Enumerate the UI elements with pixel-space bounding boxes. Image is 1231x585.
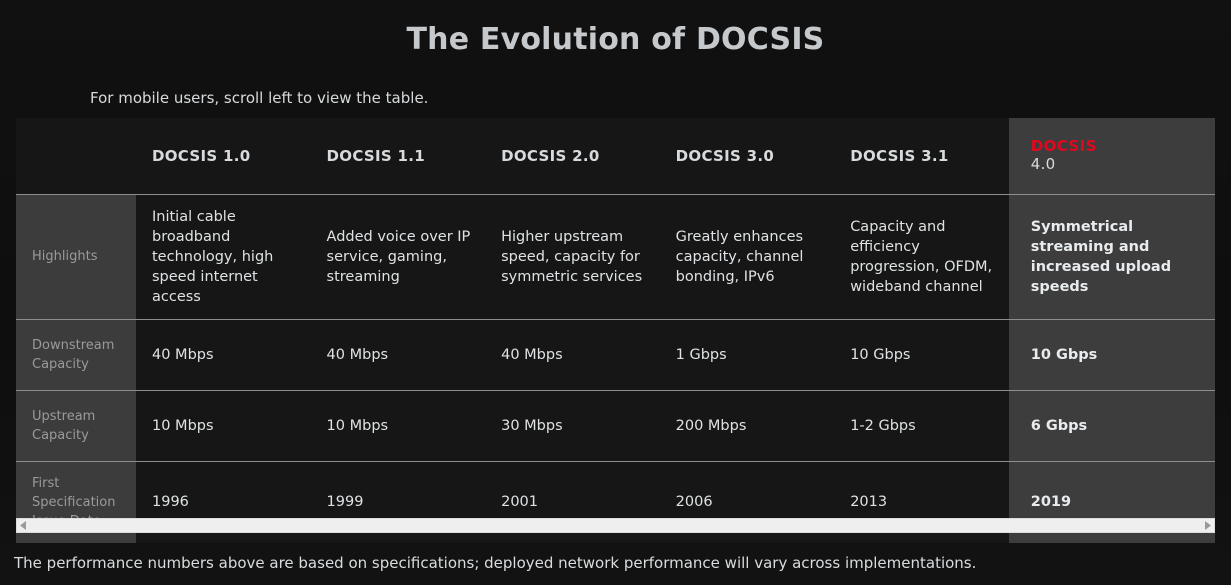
table-row-upstream-capacity: Upstream Capacity 10 Mbps 10 Mbps 30 Mbp…: [16, 390, 1215, 461]
table-row-downstream-capacity: Downstream Capacity 40 Mbps 40 Mbps 40 M…: [16, 319, 1215, 390]
column-header-docsis-1-1: DOCSIS 1.1: [311, 118, 486, 194]
table-corner-cell: [16, 118, 136, 194]
cell-downstream-docsis-1-0: 40 Mbps: [136, 319, 311, 390]
cell-highlights-docsis-4-0: Symmetrical streaming and increased uplo…: [1009, 194, 1215, 319]
table-row-highlights: Highlights Initial cable broadband techn…: [16, 194, 1215, 319]
cell-downstream-docsis-2-0: 40 Mbps: [485, 319, 660, 390]
table-header: DOCSIS 1.0 DOCSIS 1.1 DOCSIS 2.0 DOCSIS …: [16, 118, 1215, 194]
cell-highlights-docsis-3-1: Capacity and efficiency progression, OFD…: [834, 194, 1009, 319]
cell-upstream-docsis-3-0: 200 Mbps: [660, 390, 835, 461]
docsis-comparison-table: DOCSIS 1.0 DOCSIS 1.1 DOCSIS 2.0 DOCSIS …: [16, 118, 1215, 543]
docsis-4-brand-label: DOCSIS: [1031, 137, 1205, 155]
cell-upstream-docsis-2-0: 30 Mbps: [485, 390, 660, 461]
cell-highlights-docsis-2-0: Higher upstream speed, capacity for symm…: [485, 194, 660, 319]
cell-highlights-docsis-1-0: Initial cable broadband technology, high…: [136, 194, 311, 319]
page-title: The Evolution of DOCSIS: [0, 0, 1231, 58]
footer-disclaimer: The performance numbers above are based …: [14, 552, 976, 574]
comparison-table-container[interactable]: DOCSIS 1.0 DOCSIS 1.1 DOCSIS 2.0 DOCSIS …: [16, 118, 1215, 543]
cell-highlights-docsis-3-0: Greatly enhances capacity, channel bondi…: [660, 194, 835, 319]
docsis-4-version-label: 4.0: [1031, 155, 1205, 174]
horizontal-scrollbar[interactable]: [16, 518, 1215, 533]
scroll-hint-text: For mobile users, scroll left to view th…: [90, 88, 1231, 108]
column-header-docsis-4-0: DOCSIS 4.0: [1009, 118, 1215, 194]
scrollbar-track[interactable]: [30, 519, 1201, 532]
cell-downstream-docsis-3-1: 10 Gbps: [834, 319, 1009, 390]
cell-upstream-docsis-4-0: 6 Gbps: [1009, 390, 1215, 461]
cell-downstream-docsis-3-0: 1 Gbps: [660, 319, 835, 390]
cell-highlights-docsis-1-1: Added voice over IP service, gaming, str…: [311, 194, 486, 319]
scroll-left-arrow-icon[interactable]: [17, 519, 30, 532]
column-header-docsis-3-1: DOCSIS 3.1: [834, 118, 1009, 194]
cell-downstream-docsis-1-1: 40 Mbps: [311, 319, 486, 390]
column-header-docsis-2-0: DOCSIS 2.0: [485, 118, 660, 194]
row-label-downstream-capacity: Downstream Capacity: [16, 319, 136, 390]
page-root: The Evolution of DOCSIS For mobile users…: [0, 0, 1231, 585]
table-header-row: DOCSIS 1.0 DOCSIS 1.1 DOCSIS 2.0 DOCSIS …: [16, 118, 1215, 194]
column-header-docsis-1-0: DOCSIS 1.0: [136, 118, 311, 194]
cell-upstream-docsis-1-1: 10 Mbps: [311, 390, 486, 461]
column-header-docsis-3-0: DOCSIS 3.0: [660, 118, 835, 194]
scroll-right-arrow-icon[interactable]: [1201, 519, 1214, 532]
row-label-highlights: Highlights: [16, 194, 136, 319]
row-label-upstream-capacity: Upstream Capacity: [16, 390, 136, 461]
table-body: Highlights Initial cable broadband techn…: [16, 194, 1215, 543]
cell-downstream-docsis-4-0: 10 Gbps: [1009, 319, 1215, 390]
cell-upstream-docsis-3-1: 1-2 Gbps: [834, 390, 1009, 461]
cell-upstream-docsis-1-0: 10 Mbps: [136, 390, 311, 461]
